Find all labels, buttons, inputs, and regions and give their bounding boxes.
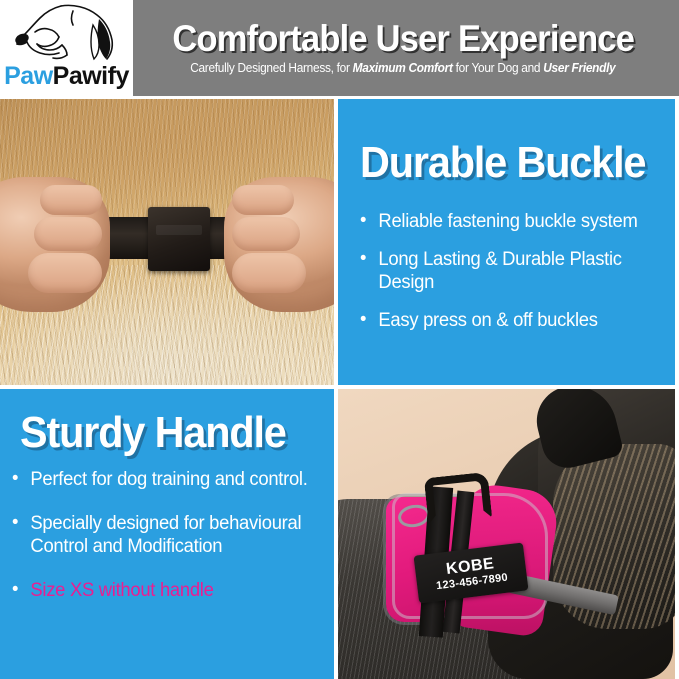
page-subtitle: Carefully Designed Harness, for Maximum … <box>190 62 615 76</box>
list-item: Long Lasting & Durable Plastic Design <box>360 249 650 294</box>
sturdy-handle-bullet-list: Perfect for dog training and control. Sp… <box>12 469 324 603</box>
product-infographic: PawPawify Comfortable User Experience Ca… <box>0 0 679 679</box>
list-item-size-note: Size XS without handle <box>12 580 315 602</box>
finger <box>232 185 294 215</box>
subtitle-emphasis-2: User Friendly <box>543 61 615 75</box>
right-hand <box>224 177 334 312</box>
dog-photo-image: KOBE 123-456-7890 <box>338 389 675 679</box>
brand-logo: PawPawify <box>0 0 133 96</box>
brand-wordmark-paw: Paw <box>4 62 53 90</box>
list-item: Easy press on & off buckles <box>360 310 650 332</box>
durable-buckle-bullet-list: Reliable fastening buckle system Long La… <box>360 211 659 333</box>
durable-buckle-title: Durable Buckle <box>360 141 656 185</box>
subtitle-part-2: for Your Dog and <box>453 61 544 75</box>
brand-wordmark: PawPawify <box>0 64 133 89</box>
panel-grid: Durable Buckle Reliable fastening buckle… <box>0 99 679 679</box>
thumb <box>28 253 102 293</box>
buckle-photo-image <box>0 99 334 385</box>
sturdy-handle-panel: Sturdy Handle Perfect for dog training a… <box>0 389 334 679</box>
list-item: Specially designed for behavioural Contr… <box>12 513 315 558</box>
subtitle-emphasis-1: Maximum Comfort <box>353 61 453 75</box>
dog-head-icon <box>13 3 121 61</box>
brand-wordmark-pawify: Pawify <box>53 62 129 90</box>
left-hand <box>0 177 110 312</box>
subtitle-part-1: Carefully Designed Harness, for <box>190 61 352 75</box>
finger <box>232 217 300 251</box>
finger <box>34 217 102 251</box>
harness-handle <box>424 472 492 524</box>
buckle-photo-panel <box>0 99 334 385</box>
header-bar: PawPawify Comfortable User Experience Ca… <box>0 0 679 96</box>
plastic-buckle <box>148 207 210 271</box>
list-item: Perfect for dog training and control. <box>12 469 315 491</box>
finger <box>40 185 102 215</box>
dog-photo-panel: KOBE 123-456-7890 <box>338 389 675 679</box>
durable-buckle-panel: Durable Buckle Reliable fastening buckle… <box>338 99 675 385</box>
header-text-group: Comfortable User Experience Carefully De… <box>133 0 679 96</box>
sturdy-handle-title: Sturdy Handle <box>20 411 315 455</box>
page-title: Comfortable User Experience <box>172 20 634 59</box>
thumb <box>232 253 306 293</box>
list-item: Reliable fastening buckle system <box>360 211 650 233</box>
